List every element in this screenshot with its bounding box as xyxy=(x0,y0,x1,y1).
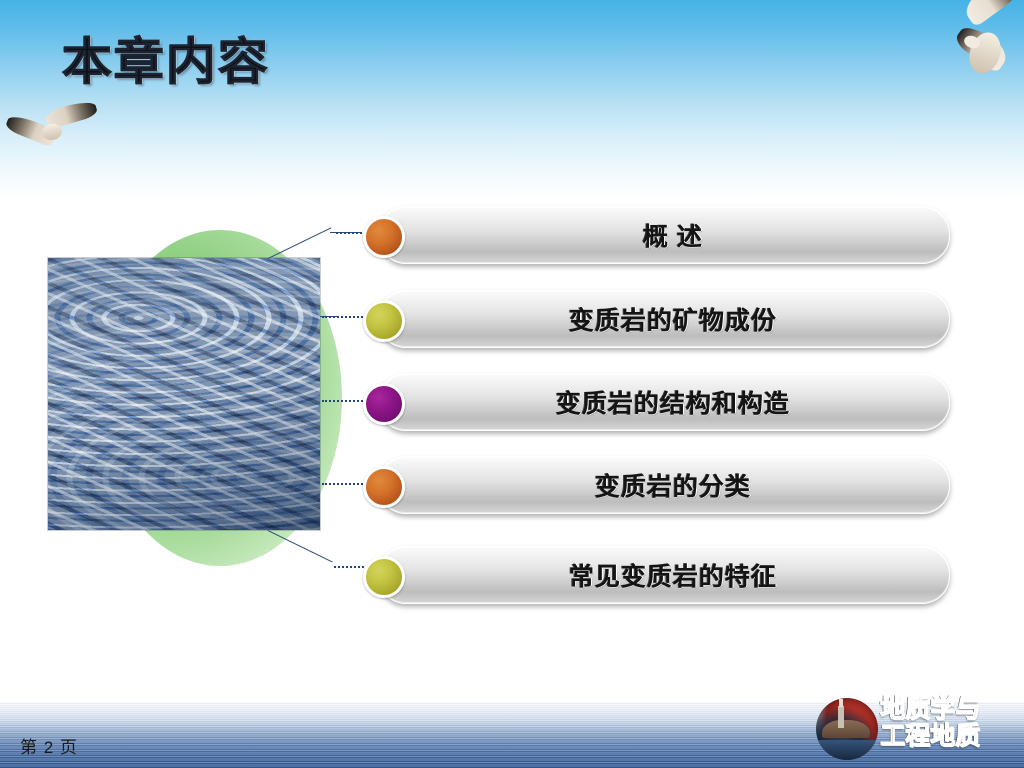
course-logo: 地质学与 工程地质 xyxy=(814,692,1014,764)
bullet-marker-1[interactable] xyxy=(363,216,405,258)
content-item-3[interactable]: 变质岩的结构和构造 xyxy=(378,373,950,431)
slide-canvas: 本章内容 概 述 变质岩的矿物成份 变质岩的结构和构造 变质岩的分类 常见变质岩… xyxy=(0,0,1024,768)
logo-line-2: 工程地质 xyxy=(880,723,1012,749)
rock-tint xyxy=(48,258,320,530)
page-number: 第 2 页 xyxy=(20,733,78,758)
content-item-label: 概 述 xyxy=(625,217,703,253)
content-item-1[interactable]: 概 述 xyxy=(378,206,950,264)
bullet-marker-5[interactable] xyxy=(363,556,405,598)
logo-line-1: 地质学与 xyxy=(880,696,1012,722)
content-item-label: 常见变质岩的特征 xyxy=(551,557,777,593)
content-item-2[interactable]: 变质岩的矿物成份 xyxy=(378,290,950,348)
content-item-5[interactable]: 常见变质岩的特征 xyxy=(378,546,950,604)
bullet-marker-2[interactable] xyxy=(363,300,405,342)
island-shape xyxy=(822,720,870,738)
page-title: 本章内容 xyxy=(62,22,270,94)
globe-sea xyxy=(816,740,878,760)
content-item-label: 变质岩的结构和构造 xyxy=(538,384,790,420)
tower-shape xyxy=(838,706,844,728)
seagull-wing xyxy=(960,0,1021,28)
content-item-4[interactable]: 变质岩的分类 xyxy=(378,456,950,514)
seagull-icon-right xyxy=(948,2,1022,114)
content-item-label: 变质岩的矿物成份 xyxy=(551,301,777,337)
bullet-marker-3[interactable] xyxy=(363,383,405,425)
globe-icon xyxy=(816,698,878,760)
seagull-icon-left xyxy=(4,108,100,170)
connector-diagonal-top xyxy=(268,227,331,259)
rock-photo xyxy=(48,258,320,530)
content-item-label: 变质岩的分类 xyxy=(577,467,751,503)
bullet-marker-4[interactable] xyxy=(363,466,405,508)
logo-text: 地质学与 工程地质 xyxy=(880,696,1012,750)
